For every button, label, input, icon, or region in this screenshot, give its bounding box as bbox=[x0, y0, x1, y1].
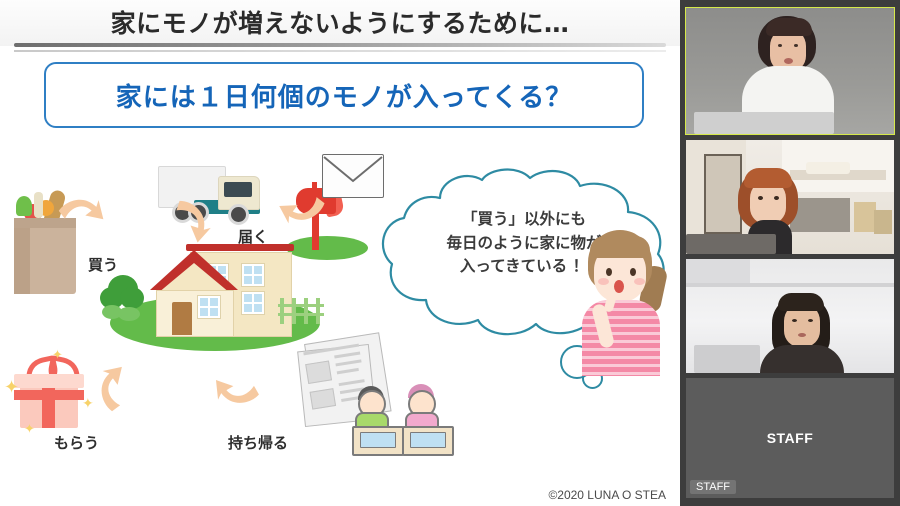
meeting-screenshare-window: 家にモノが増えないようにするために… 家には１日何個のモノが入ってくる？ 買う bbox=[0, 0, 900, 506]
arrow-bringhome-to-house bbox=[204, 360, 267, 423]
label-bring-home: 持ち帰る bbox=[228, 432, 288, 453]
label-receive: もらう bbox=[54, 432, 99, 453]
house-icon bbox=[150, 230, 290, 335]
sparkle-icon: ✦ bbox=[52, 348, 63, 361]
thought-line-1: 「買う」以外にも bbox=[408, 208, 640, 232]
video-feed-3 bbox=[686, 259, 894, 373]
participant-name-badge: STAFF bbox=[690, 480, 736, 494]
participant-tile-4[interactable]: STAFF STAFF bbox=[686, 378, 894, 498]
title-divider bbox=[14, 43, 666, 47]
participant-tile-3[interactable] bbox=[686, 259, 894, 373]
video-feed-2 bbox=[686, 140, 894, 254]
video-feed-1 bbox=[686, 8, 894, 134]
participant-tile-2[interactable] bbox=[686, 140, 894, 254]
fence-icon bbox=[278, 298, 324, 324]
copyright-text: ©2020 LUNA O STEA bbox=[548, 488, 666, 502]
shared-slide: 家にモノが増えないようにするために… 家には１日何個のモノが入ってくる？ 買う bbox=[0, 0, 680, 506]
participant-video-rail: STAFF STAFF bbox=[680, 0, 900, 506]
participant-tile-1[interactable] bbox=[686, 8, 894, 134]
slide-title: 家にモノが増えないようにするために… bbox=[0, 4, 680, 40]
title-divider-secondary bbox=[14, 50, 666, 52]
sparkle-icon: ✦ bbox=[82, 396, 94, 410]
question-callout-box: 家には１日何個のモノが入ってくる？ bbox=[44, 62, 644, 128]
question-callout-text: 家には１日何個のモノが入ってくる？ bbox=[116, 77, 572, 114]
sparkle-icon: ✦ bbox=[4, 378, 19, 396]
tree-icon bbox=[100, 275, 144, 323]
school-desk-children-icon bbox=[352, 380, 460, 454]
sparkle-icon: ✦ bbox=[24, 422, 35, 435]
gift-box-icon bbox=[14, 358, 84, 430]
girl-character-illustration bbox=[576, 230, 676, 376]
label-buy: 買う bbox=[88, 254, 118, 275]
participant-center-label: STAFF bbox=[767, 430, 814, 446]
envelope-icon bbox=[322, 154, 384, 198]
